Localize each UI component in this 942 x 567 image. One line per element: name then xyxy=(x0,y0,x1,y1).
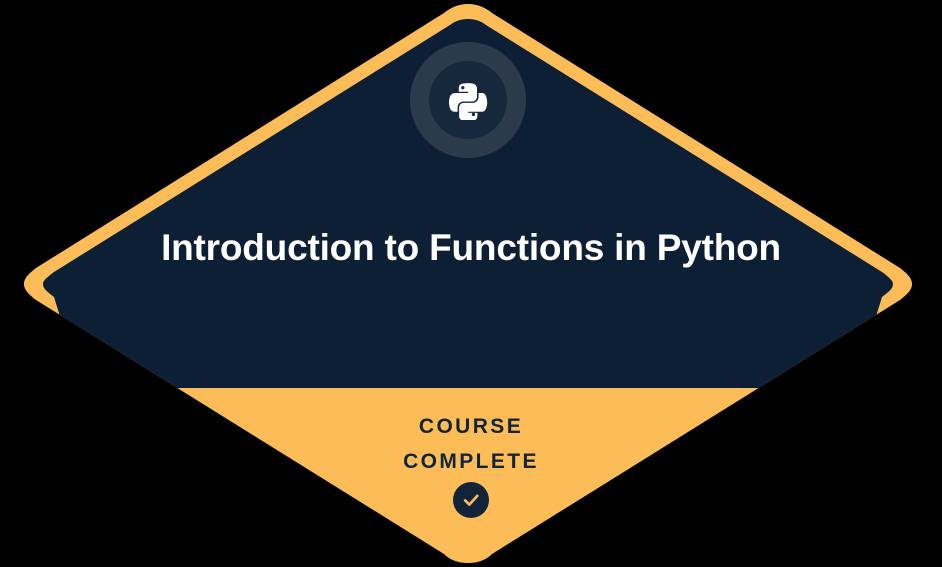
completion-check-badge xyxy=(453,482,489,518)
course-completion-badge: Introduction to Functions in Python COUR… xyxy=(0,0,942,567)
completion-status: COURSE COMPLETE xyxy=(261,409,681,479)
check-circle-icon xyxy=(461,490,481,510)
python-logo-icon xyxy=(448,80,488,120)
status-line-complete: COMPLETE xyxy=(261,444,681,479)
status-line-course: COURSE xyxy=(261,409,681,444)
course-title: Introduction to Functions in Python xyxy=(161,225,781,271)
